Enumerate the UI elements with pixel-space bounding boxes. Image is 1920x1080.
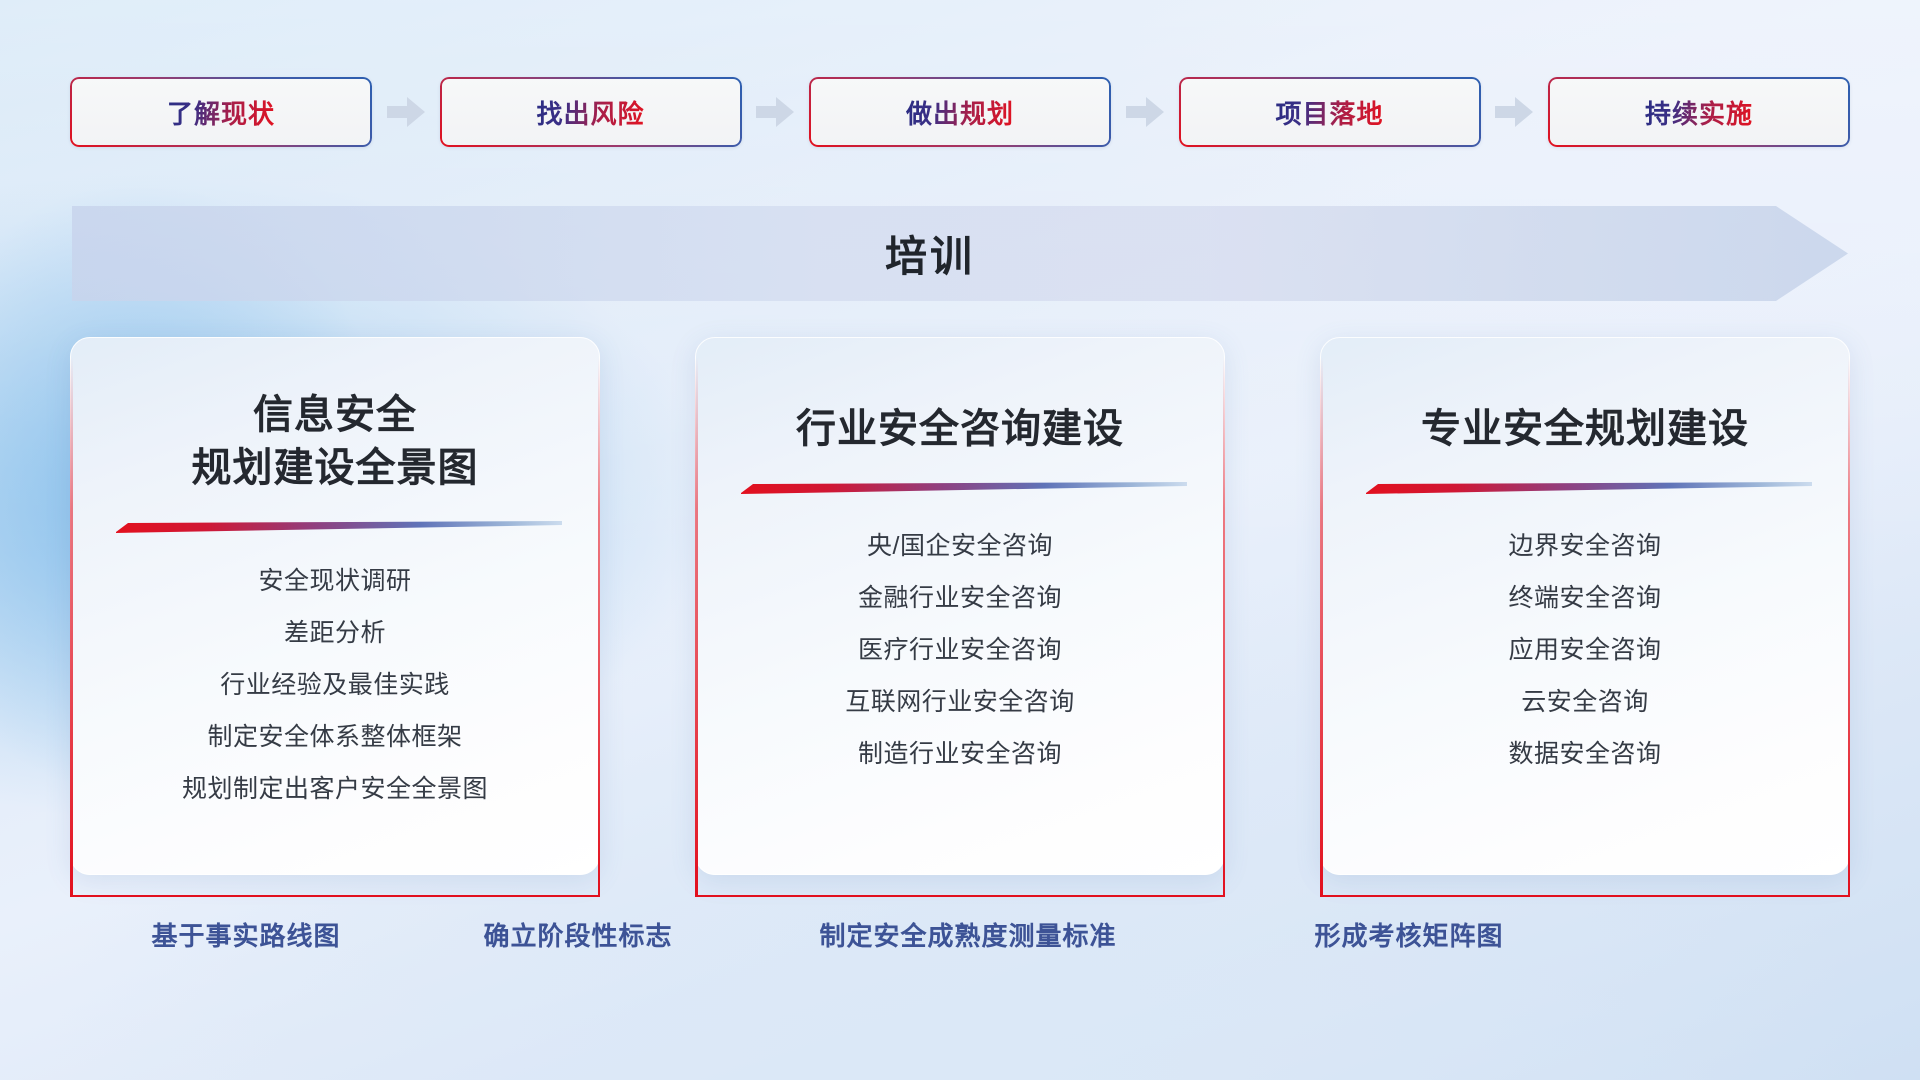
list-item: 安全现状调研 bbox=[258, 560, 411, 603]
gradient-divider-icon bbox=[733, 482, 1187, 495]
list-item: 差距分析 bbox=[284, 612, 386, 655]
footer-label-1: 基于事实路线图 bbox=[151, 916, 340, 953]
card-title-1: 信息安全 规划建设全景图 bbox=[192, 389, 479, 495]
list-item: 规划制定出客户安全全景图 bbox=[182, 768, 488, 811]
step-label-4: 项目落地 bbox=[1275, 94, 1383, 131]
gradient-divider-icon bbox=[108, 521, 562, 534]
list-item: 行业经验及最佳实践 bbox=[220, 664, 450, 707]
step-box-3[interactable]: 做出规划 bbox=[809, 77, 1111, 147]
step-box-4[interactable]: 项目落地 bbox=[1179, 77, 1481, 147]
step-box-5[interactable]: 持续实施 bbox=[1548, 77, 1850, 147]
card-title-line: 信息安全 bbox=[192, 389, 479, 442]
step-box-1[interactable]: 了解现状 bbox=[70, 77, 372, 147]
card-title-line: 专业安全规划建设 bbox=[1421, 403, 1749, 456]
footer-labels: 基于事实路线图 确立阶段性标志 制定安全成熟度测量标准 形成考核矩阵图 bbox=[0, 916, 1920, 964]
footer-label-4: 形成考核矩阵图 bbox=[1314, 916, 1503, 953]
arrow-right-icon bbox=[1125, 95, 1165, 129]
card-industry-security-consulting[interactable]: 行业安全咨询建设 央/国企安全咨询 金融行业安全咨询 医疗行业安全咨询 互联网行… bbox=[695, 337, 1225, 875]
step-label-2: 找出风险 bbox=[536, 94, 644, 131]
list-item: 医疗行业安全咨询 bbox=[858, 629, 1062, 672]
card-list-2: 央/国企安全咨询 金融行业安全咨询 医疗行业安全咨询 互联网行业安全咨询 制造行… bbox=[729, 525, 1191, 776]
arrow-right-icon bbox=[755, 95, 795, 129]
list-item: 应用安全咨询 bbox=[1508, 629, 1661, 672]
step-label-3: 做出规划 bbox=[906, 94, 1014, 131]
arrow-right-icon bbox=[386, 95, 426, 129]
card-title-3: 专业安全规划建设 bbox=[1421, 403, 1749, 456]
process-steps: 了解现状 找出风险 做出规划 项目落地 持续实施 bbox=[70, 77, 1850, 147]
list-item: 制造行业安全咨询 bbox=[858, 733, 1062, 776]
card-info-security-blueprint[interactable]: 信息安全 规划建设全景图 bbox=[70, 337, 600, 875]
list-item: 央/国企安全咨询 bbox=[867, 525, 1053, 568]
list-item: 数据安全咨询 bbox=[1508, 733, 1661, 776]
card-list-3: 边界安全咨询 终端安全咨询 应用安全咨询 云安全咨询 数据安全咨询 bbox=[1354, 525, 1816, 776]
step-label-1: 了解现状 bbox=[167, 94, 275, 131]
step-label-5: 持续实施 bbox=[1645, 94, 1753, 131]
list-item: 金融行业安全咨询 bbox=[858, 577, 1062, 620]
card-row: 信息安全 规划建设全景图 bbox=[70, 337, 1850, 877]
list-item: 终端安全咨询 bbox=[1508, 577, 1661, 620]
list-item: 边界安全咨询 bbox=[1508, 525, 1661, 568]
footer-label-3: 制定安全成熟度测量标准 bbox=[819, 916, 1116, 953]
card-title-line: 规划建设全景图 bbox=[192, 442, 479, 495]
card-title-line: 行业安全咨询建设 bbox=[796, 403, 1124, 456]
card-professional-security-planning[interactable]: 专业安全规划建设 边界安全咨询 终端安全咨询 应用安全咨询 云安全咨询 数据安全… bbox=[1320, 337, 1850, 875]
list-item: 互联网行业安全咨询 bbox=[845, 681, 1075, 724]
list-item: 云安全咨询 bbox=[1521, 681, 1649, 724]
card-list-1: 安全现状调研 差距分析 行业经验及最佳实践 制定安全体系整体框架 规划制定出客户… bbox=[104, 560, 566, 811]
training-banner: 培训 bbox=[72, 206, 1848, 301]
step-box-2[interactable]: 找出风险 bbox=[440, 77, 742, 147]
arrow-right-icon bbox=[1494, 95, 1534, 129]
footer-label-2: 确立阶段性标志 bbox=[483, 916, 672, 953]
training-banner-label: 培训 bbox=[72, 206, 1848, 301]
list-item: 制定安全体系整体框架 bbox=[207, 716, 462, 759]
gradient-divider-icon bbox=[1358, 482, 1812, 495]
card-title-2: 行业安全咨询建设 bbox=[796, 403, 1124, 456]
